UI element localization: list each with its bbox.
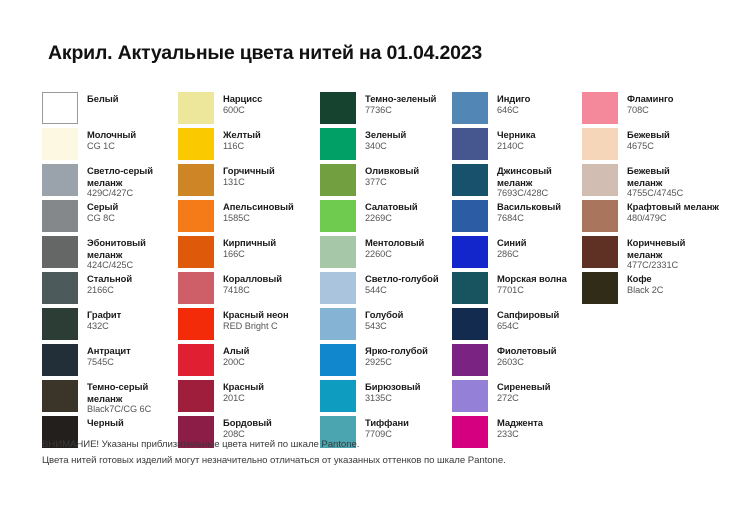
color-swatch[interactable] [320,380,356,412]
pantone-code: 480/479C [627,213,719,225]
swatch-columns: БелыйМолочныйCG 1CСветло-серыймеланж429C… [42,92,742,452]
pantone-code: 654C [497,321,559,333]
color-swatch[interactable] [582,128,618,160]
color-swatch[interactable] [320,200,356,232]
color-name: Темно-серый [87,381,151,393]
color-name: Кирпичный [223,237,276,249]
swatch-labels: Ярко-голубой2925C [365,344,428,368]
color-name: Желтый [223,129,261,141]
color-name: Серый [87,201,118,213]
swatch-column: Темно-зеленый7736CЗеленый340CОливковый37… [320,92,452,452]
color-name: Сиреневый [497,381,550,393]
swatch-row[interactable]: МолочныйCG 1C [42,128,178,164]
swatch-labels: Индиго646C [497,92,530,116]
color-swatch[interactable] [178,344,214,376]
color-swatch[interactable] [320,344,356,376]
color-name: Нарцисс [223,93,262,105]
color-name: Зеленый [365,129,406,141]
pantone-code: RED Bright C [223,321,289,333]
swatch-labels: Крафтовый меланж480/479C [627,200,719,224]
pantone-code: 708C [627,105,673,117]
pantone-code: 7418C [223,285,282,297]
color-name: Тиффани [365,417,409,429]
color-name: Светло-серый [87,165,153,177]
swatch-labels: КофеBlack 2C [627,272,663,296]
pantone-code: 2269C [365,213,418,225]
color-name: Белый [87,93,118,105]
pantone-code: 432C [87,321,121,333]
color-swatch[interactable] [452,380,488,412]
color-name: Черника [497,129,536,141]
color-swatch[interactable] [452,272,488,304]
color-name-line2: меланж [497,177,552,189]
color-swatch[interactable] [582,200,618,232]
pantone-code: 7545C [87,357,131,369]
color-swatch[interactable] [452,164,488,196]
swatch-labels: Джинсовыймеланж7693C/428C [497,164,552,200]
color-swatch[interactable] [178,308,214,340]
swatch-row[interactable]: Светло-серыймеланж429C/427C [42,164,178,200]
swatch-row[interactable]: Сиреневый272C [452,380,582,416]
color-swatch[interactable] [42,380,78,412]
color-swatch[interactable] [320,272,356,304]
swatch-row[interactable]: Салатовый2269C [320,200,452,236]
color-swatch[interactable] [452,308,488,340]
color-swatch[interactable] [452,236,488,268]
swatch-row[interactable]: Бежевый4675C [582,128,742,164]
swatch-labels: Кирпичный166C [223,236,276,260]
color-swatch[interactable] [42,344,78,376]
color-name: Маджента [497,417,543,429]
swatch-labels: Оливковый377C [365,164,419,188]
pantone-code: 131C [223,177,275,189]
color-swatch[interactable] [452,92,488,124]
swatch-row[interactable]: Синий286C [452,236,582,272]
pantone-code: 272C [497,393,550,405]
color-swatch[interactable] [582,272,618,304]
swatch-row[interactable]: Нарцисс600C [178,92,320,128]
swatch-labels: Антрацит7545C [87,344,131,368]
color-swatch[interactable] [178,92,214,124]
color-swatch[interactable] [178,200,214,232]
pantone-code: 4675C [627,141,670,153]
swatch-labels: Темно-серыймеланжBlack7C/CG 6C [87,380,151,416]
swatch-row[interactable]: Васильковый7684C [452,200,582,236]
pantone-code: 4755C/4745C [627,188,683,200]
color-swatch[interactable] [452,128,488,160]
swatch-labels: Васильковый7684C [497,200,561,224]
pantone-code: 600C [223,105,262,117]
swatch-labels: Нарцисс600C [223,92,262,116]
swatch-row[interactable]: Алый200C [178,344,320,380]
color-name: Эбонитовый [87,237,146,249]
swatch-row[interactable]: КофеBlack 2C [582,272,742,308]
color-swatch[interactable] [582,236,618,268]
swatch-row[interactable]: Фламинго708C [582,92,742,128]
swatch-row[interactable]: Морская волна7701C [452,272,582,308]
color-swatch[interactable] [42,200,78,232]
pantone-code: 2925C [365,357,428,369]
swatch-labels: Бирюзовый3135C [365,380,420,404]
swatch-labels: Голубой543C [365,308,403,332]
pantone-code: 340C [365,141,406,153]
color-name: Молочный [87,129,136,141]
swatch-row[interactable]: Коралловый7418C [178,272,320,308]
pantone-code: 3135C [365,393,420,405]
color-swatch[interactable] [178,164,214,196]
swatch-column: Фламинго708CБежевый4675CБежевыймеланж475… [582,92,742,452]
color-name: Индиго [497,93,530,105]
color-name: Джинсовый [497,165,552,177]
swatch-row[interactable]: Коричневыймеланж477C/2331C [582,236,742,272]
swatch-row[interactable]: Желтый116C [178,128,320,164]
color-name: Кофе [627,273,663,285]
color-swatch[interactable] [42,236,78,268]
swatch-labels: Стальной2166C [87,272,132,296]
swatch-row[interactable]: Антрацит7545C [42,344,178,380]
swatch-row[interactable]: Джинсовыймеланж7693C/428C [452,164,582,200]
color-swatch[interactable] [42,308,78,340]
swatch-labels: Темно-зеленый7736C [365,92,436,116]
swatch-row[interactable]: Голубой543C [320,308,452,344]
color-swatch[interactable] [42,164,78,196]
color-swatch[interactable] [42,272,78,304]
swatch-labels: МолочныйCG 1C [87,128,136,152]
color-swatch[interactable] [320,164,356,196]
pantone-code: 7701C [497,285,567,297]
swatch-labels: Бежевыймеланж4755C/4745C [627,164,683,200]
swatch-row[interactable]: Черника2140C [452,128,582,164]
color-swatch[interactable] [320,128,356,160]
color-swatch[interactable] [452,344,488,376]
swatch-labels: Морская волна7701C [497,272,567,296]
swatch-row[interactable]: Красный201C [178,380,320,416]
swatch-labels: Сиреневый272C [497,380,550,404]
color-name-line2: меланж [627,249,685,261]
color-chart-page: Акрил. Актуальные цвета нитей на 01.04.2… [0,0,750,512]
color-name: Васильковый [497,201,561,213]
swatch-column: Индиго646CЧерника2140CДжинсовыймеланж769… [452,92,582,452]
swatch-labels: Апельсиновый1585C [223,200,294,224]
pantone-code: 286C [497,249,526,261]
color-name: Алый [223,345,249,357]
color-name: Коралловый [223,273,282,285]
color-swatch[interactable] [178,236,214,268]
color-name: Темно-зеленый [365,93,436,105]
pantone-code: 2166C [87,285,132,297]
swatch-labels: СерыйCG 8C [87,200,118,224]
pantone-code: 2603C [497,357,556,369]
color-swatch[interactable] [582,92,618,124]
swatch-labels: Красный201C [223,380,264,404]
swatch-row[interactable]: Светло-голубой544C [320,272,452,308]
color-name: Бирюзовый [365,381,420,393]
pantone-code: 544C [365,285,439,297]
color-swatch[interactable] [178,272,214,304]
swatch-row[interactable]: Фиолетовый2603C [452,344,582,380]
pantone-code: Black 2C [627,285,663,297]
swatch-row[interactable]: Белый [42,92,178,128]
swatch-labels: Сапфировый654C [497,308,559,332]
color-name: Красный [223,381,264,393]
pantone-code: 200C [223,357,249,369]
footer-line-1: ВНИМАНИЕ! Указаны приблизительные цвета … [42,437,506,453]
pantone-code: 116C [223,141,261,153]
swatch-row[interactable]: Бежевыймеланж4755C/4745C [582,164,742,200]
swatch-row[interactable]: Оливковый377C [320,164,452,200]
swatch-labels: Салатовый2269C [365,200,418,224]
swatch-labels: Алый200C [223,344,249,368]
swatch-row[interactable]: Бирюзовый3135C [320,380,452,416]
color-name: Черный [87,417,124,429]
color-name: Бежевый [627,129,670,141]
color-name: Морская волна [497,273,567,285]
pantone-code: 543C [365,321,403,333]
swatch-row[interactable]: Стальной2166C [42,272,178,308]
pantone-code: 7736C [365,105,436,117]
swatch-row[interactable]: Апельсиновый1585C [178,200,320,236]
pantone-code: 1585C [223,213,294,225]
color-name: Горчичный [223,165,275,177]
pantone-code: 429C/427C [87,188,153,200]
swatch-labels: Зеленый340C [365,128,406,152]
pantone-code: 646C [497,105,530,117]
swatch-labels: Черника2140C [497,128,536,152]
color-name: Бежевый [627,165,683,177]
color-name: Коричневый [627,237,685,249]
pantone-code: CG 8C [87,213,118,225]
swatch-labels: Горчичный131C [223,164,275,188]
color-swatch[interactable] [320,308,356,340]
swatch-row[interactable]: Темно-серыймеланжBlack7C/CG 6C [42,380,178,416]
color-name: Оливковый [365,165,419,177]
swatch-labels: Коричневыймеланж477C/2331C [627,236,685,272]
color-swatch[interactable] [42,128,78,160]
color-name: Фиолетовый [497,345,556,357]
swatch-column: Нарцисс600CЖелтый116CГорчичный131CАпельс… [178,92,320,452]
swatch-labels: Графит432C [87,308,121,332]
color-swatch[interactable] [178,128,214,160]
swatch-row[interactable]: Красный неонRED Bright C [178,308,320,344]
swatch-row[interactable]: Ярко-голубой2925C [320,344,452,380]
color-name: Антрацит [87,345,131,357]
color-swatch[interactable] [178,380,214,412]
color-name: Салатовый [365,201,418,213]
swatch-row[interactable]: Сапфировый654C [452,308,582,344]
color-swatch[interactable] [452,200,488,232]
color-name-line2: меланж [87,393,151,405]
swatch-labels: Бежевый4675C [627,128,670,152]
swatch-row[interactable]: Индиго646C [452,92,582,128]
color-swatch[interactable] [582,164,618,196]
pantone-code: CG 1C [87,141,136,153]
color-name-line2: меланж [87,249,146,261]
page-title: Акрил. Актуальные цвета нитей на 01.04.2… [48,42,482,65]
color-swatch[interactable] [320,92,356,124]
color-name: Стальной [87,273,132,285]
swatch-labels: Красный неонRED Bright C [223,308,289,332]
pantone-code: 477C/2331C [627,260,685,272]
swatch-labels: Светло-серыймеланж429C/427C [87,164,153,200]
swatch-labels: Эбонитовыймеланж424C/425C [87,236,146,272]
color-name: Фламинго [627,93,673,105]
color-name: Графит [87,309,121,321]
color-name: Сапфировый [497,309,559,321]
pantone-code: 201C [223,393,264,405]
footer-line-2: Цвета нитей готовых изделий могут незнач… [42,453,506,469]
swatch-row[interactable]: Темно-зеленый7736C [320,92,452,128]
pantone-code: Black7C/CG 6C [87,404,151,416]
color-name: Апельсиновый [223,201,294,213]
swatch-labels: Белый [87,92,118,105]
swatch-row[interactable]: Графит432C [42,308,178,344]
pantone-code: 7684C [497,213,561,225]
swatch-row[interactable]: СерыйCG 8C [42,200,178,236]
color-swatch[interactable] [42,92,78,124]
color-name: Голубой [365,309,403,321]
color-name: Светло-голубой [365,273,439,285]
swatch-labels: Коралловый7418C [223,272,282,296]
color-name: Красный неон [223,309,289,321]
swatch-row[interactable]: Ментоловый2260C [320,236,452,272]
color-name: Ментоловый [365,237,424,249]
pantone-code: 166C [223,249,276,261]
pantone-code: 2260C [365,249,424,261]
swatch-row[interactable]: Кирпичный166C [178,236,320,272]
swatch-column: БелыйМолочныйCG 1CСветло-серыймеланж429C… [42,92,178,452]
swatch-labels: Фиолетовый2603C [497,344,556,368]
swatch-row[interactable]: Крафтовый меланж480/479C [582,200,742,236]
pantone-code: 2140C [497,141,536,153]
swatch-labels: Фламинго708C [627,92,673,116]
color-name: Синий [497,237,526,249]
swatch-labels: Черный [87,416,124,429]
color-name: Бордовый [223,417,272,429]
swatch-row[interactable]: Эбонитовыймеланж424C/425C [42,236,178,272]
footer-notes: ВНИМАНИЕ! Указаны приблизительные цвета … [42,437,506,469]
swatch-labels: Ментоловый2260C [365,236,424,260]
swatch-labels: Светло-голубой544C [365,272,439,296]
color-swatch[interactable] [320,236,356,268]
color-name-line2: меланж [87,177,153,189]
pantone-code: 7693C/428C [497,188,552,200]
swatch-row[interactable]: Зеленый340C [320,128,452,164]
pantone-code: 424C/425C [87,260,146,272]
color-name: Ярко-голубой [365,345,428,357]
swatch-labels: Желтый116C [223,128,261,152]
pantone-code: 377C [365,177,419,189]
swatch-row[interactable]: Горчичный131C [178,164,320,200]
swatch-labels: Синий286C [497,236,526,260]
color-name: Крафтовый меланж [627,201,719,213]
color-name-line2: меланж [627,177,683,189]
